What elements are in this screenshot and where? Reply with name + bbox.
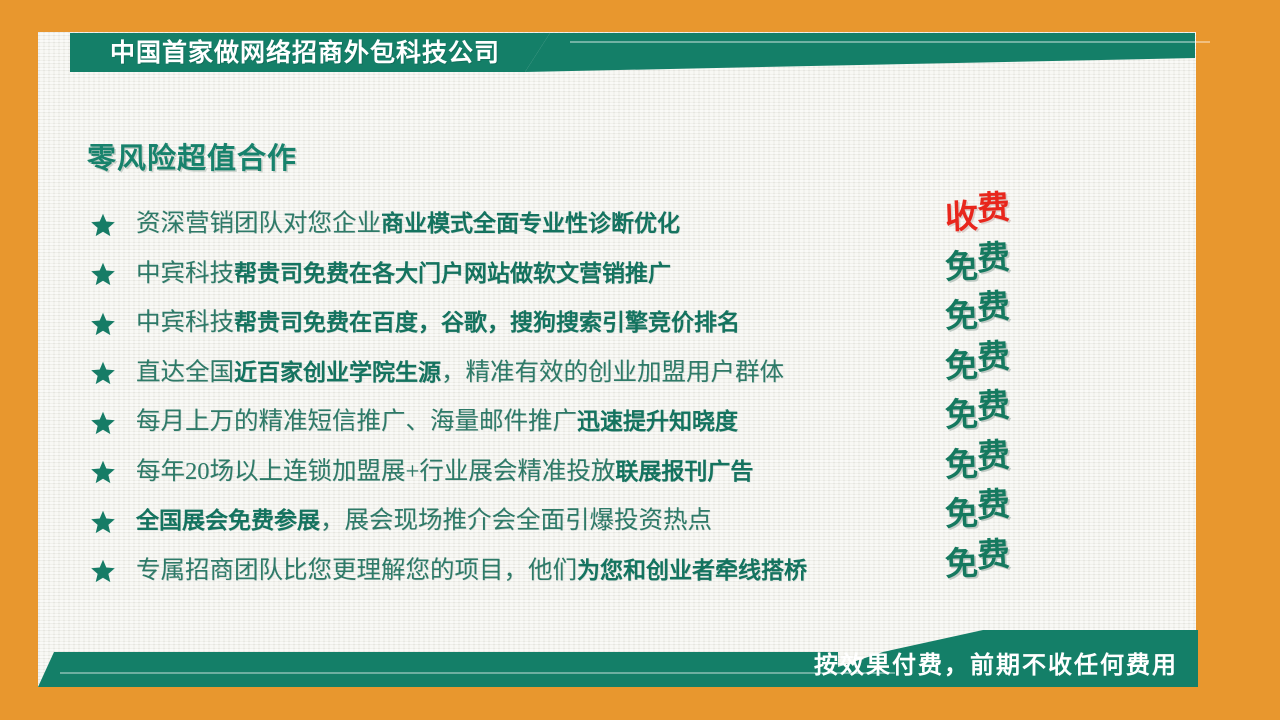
benefit-row: 全国展会免费参展，展会现场推介会全面引爆投资热点 bbox=[90, 497, 990, 547]
footer-banner-left-shape bbox=[38, 652, 838, 687]
price-badge-char: 费 bbox=[976, 188, 1010, 230]
star-icon bbox=[90, 509, 116, 535]
benefit-text-plain: 专属招商团队比您更理解您的项目，他们 bbox=[136, 557, 577, 584]
benefit-text-emphasis: 近百家创业学院生源 bbox=[234, 360, 441, 386]
benefit-text-plain: ，精准有效的创业加盟用户群体 bbox=[441, 359, 784, 386]
footer-banner: 按效果付费，前期不收任何费用 bbox=[38, 630, 1196, 687]
price-badge-char: 费 bbox=[976, 436, 1010, 478]
price-badge-char: 费 bbox=[976, 535, 1010, 577]
footer-banner-hairline bbox=[60, 672, 895, 674]
benefit-text-emphasis: 帮贵司免费在各大门户网站做软文营销推广 bbox=[234, 261, 671, 287]
benefit-row: 直达全国近百家创业学院生源，精准有效的创业加盟用户群体 bbox=[90, 349, 990, 399]
price-badge-char: 免 bbox=[944, 445, 977, 486]
price-badge-char: 免 bbox=[944, 346, 977, 387]
benefit-text-emphasis: 商业模式全面专业性诊断优化 bbox=[381, 211, 680, 237]
benefit-text: 每月上万的精准短信推广、海量邮件推广迅速提升知晓度 bbox=[136, 409, 738, 436]
benefit-text: 直达全国近百家创业学院生源，精准有效的创业加盟用户群体 bbox=[136, 360, 784, 387]
price-badge-char: 免 bbox=[944, 296, 977, 337]
benefit-row: 中宾科技帮贵司免费在百度，谷歌，搜狗搜索引擎竞价排名 bbox=[90, 299, 990, 349]
price-column: 收费免费免费免费免费免费免费免费 bbox=[945, 196, 1065, 592]
benefit-text-plain: 中宾科技 bbox=[136, 309, 234, 336]
star-icon bbox=[90, 459, 116, 485]
slide-root: 中国首家做网络招商外包科技公司 零风险超值合作 资深营销团队对您企业商业模式全面… bbox=[0, 0, 1280, 720]
benefit-text-plain: 直达全国 bbox=[136, 359, 234, 386]
price-badge-char: 费 bbox=[976, 287, 1010, 329]
benefit-text-emphasis: 帮贵司免费在百度，谷歌，搜狗搜索引擎竞价排名 bbox=[234, 310, 740, 336]
price-badge-char: 收 bbox=[944, 197, 977, 238]
page-title: 零风险超值合作 bbox=[87, 135, 297, 177]
price-badge: 免费 bbox=[945, 543, 1065, 593]
benefit-text-emphasis: 为您和创业者牵线搭桥 bbox=[577, 558, 807, 584]
benefit-row: 资深营销团队对您企业商业模式全面专业性诊断优化 bbox=[90, 200, 990, 250]
star-icon bbox=[90, 212, 116, 238]
header-title: 中国首家做网络招商外包科技公司 bbox=[110, 36, 500, 69]
benefit-text: 中宾科技帮贵司免费在百度，谷歌，搜狗搜索引擎竞价排名 bbox=[136, 310, 740, 337]
star-icon bbox=[90, 261, 116, 287]
benefit-row: 每月上万的精准短信推广、海量邮件推广迅速提升知晓度 bbox=[90, 398, 990, 448]
benefit-row: 中宾科技帮贵司免费在各大门户网站做软文营销推广 bbox=[90, 250, 990, 300]
star-icon bbox=[90, 410, 116, 436]
benefit-text-plain: 每年20场以上连锁加盟展+行业展会精准投放 bbox=[136, 458, 615, 485]
benefit-text-emphasis: 联展报刊广告 bbox=[615, 459, 753, 485]
benefit-text-plain: 每月上万的精准短信推广、海量邮件推广 bbox=[136, 408, 577, 435]
price-badge-char: 费 bbox=[976, 238, 1010, 280]
price-badge-char: 费 bbox=[976, 485, 1010, 527]
benefit-text-plain: ，展会现场推介会全面引爆投资热点 bbox=[320, 507, 712, 534]
benefit-row: 每年20场以上连锁加盟展+行业展会精准投放联展报刊广告 bbox=[90, 448, 990, 498]
benefit-text-plain: 资深营销团队对您企业 bbox=[136, 210, 381, 237]
price-badge-char: 免 bbox=[944, 395, 977, 436]
star-icon bbox=[90, 558, 116, 584]
price-badge-char: 免 bbox=[944, 544, 977, 585]
header-banner: 中国首家做网络招商外包科技公司 bbox=[70, 33, 1195, 72]
price-badge-char: 免 bbox=[944, 247, 977, 288]
benefit-text: 全国展会免费参展，展会现场推介会全面引爆投资热点 bbox=[136, 508, 712, 535]
benefit-row: 专属招商团队比您更理解您的项目，他们为您和创业者牵线搭桥 bbox=[90, 547, 990, 597]
benefit-text: 每年20场以上连锁加盟展+行业展会精准投放联展报刊广告 bbox=[136, 459, 753, 486]
star-icon bbox=[90, 360, 116, 386]
benefit-text: 资深营销团队对您企业商业模式全面专业性诊断优化 bbox=[136, 211, 680, 238]
benefits-list: 资深营销团队对您企业商业模式全面专业性诊断优化中宾科技帮贵司免费在各大门户网站做… bbox=[90, 200, 990, 596]
benefit-text-emphasis: 全国展会免费参展 bbox=[136, 508, 320, 534]
benefit-text: 专属招商团队比您更理解您的项目，他们为您和创业者牵线搭桥 bbox=[136, 558, 807, 585]
benefit-text-plain: 中宾科技 bbox=[136, 260, 234, 287]
benefit-text: 中宾科技帮贵司免费在各大门户网站做软文营销推广 bbox=[136, 261, 671, 288]
price-badge-char: 费 bbox=[976, 337, 1010, 379]
price-badge-char: 费 bbox=[976, 386, 1010, 428]
benefit-text-emphasis: 迅速提升知晓度 bbox=[577, 409, 738, 435]
header-banner-tail-shape bbox=[525, 33, 1195, 72]
star-icon bbox=[90, 311, 116, 337]
header-banner-hairline bbox=[570, 41, 1210, 43]
price-badge-char: 免 bbox=[944, 494, 977, 535]
footer-slogan: 按效果付费，前期不收任何费用 bbox=[814, 645, 1178, 680]
